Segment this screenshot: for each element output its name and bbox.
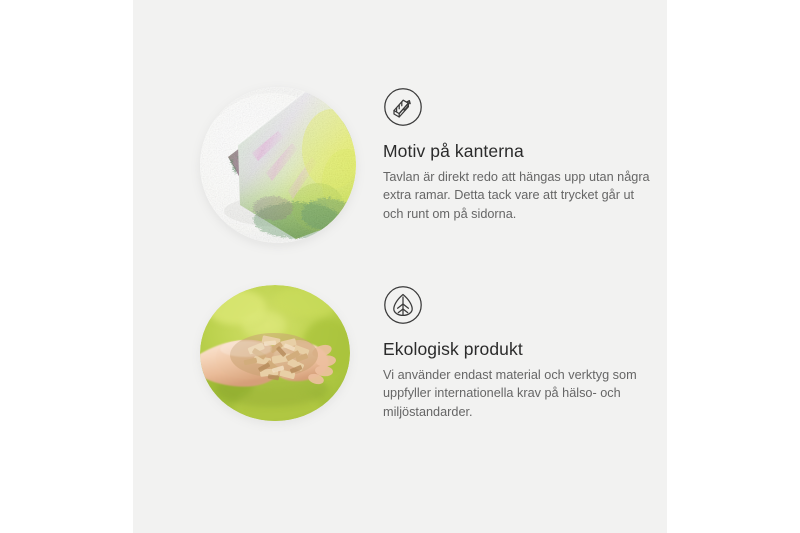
feature-text-motiv-pa-kanterna: Motiv på kanterna Tavlan är direkt redo … xyxy=(383,87,663,223)
feature-block-ekologisk-produkt: Ekologisk produkt Vi använder endast mat… xyxy=(133,285,667,445)
feature-title: Ekologisk produkt xyxy=(383,339,663,360)
feature-description: Vi använder endast material och verktyg … xyxy=(383,366,661,421)
feature-block-motiv-pa-kanterna: Motiv på kanterna Tavlan är direkt redo … xyxy=(133,87,667,247)
feature-text-ekologisk-produkt: Ekologisk produkt Vi använder endast mat… xyxy=(383,285,663,421)
feature-title: Motiv på kanterna xyxy=(383,141,663,162)
product-feature-panel: Motiv på kanterna Tavlan är direkt redo … xyxy=(0,0,800,533)
content-panel: Motiv på kanterna Tavlan är direkt redo … xyxy=(133,0,667,533)
canvas-wrap-edge-icon xyxy=(383,87,423,127)
canvas-corner-photo xyxy=(200,87,356,243)
feature-description: Tavlan är direkt redo att hängas upp uta… xyxy=(383,168,651,223)
leaf-icon xyxy=(383,285,423,325)
hands-holding-wood-chips-photo xyxy=(200,285,350,421)
